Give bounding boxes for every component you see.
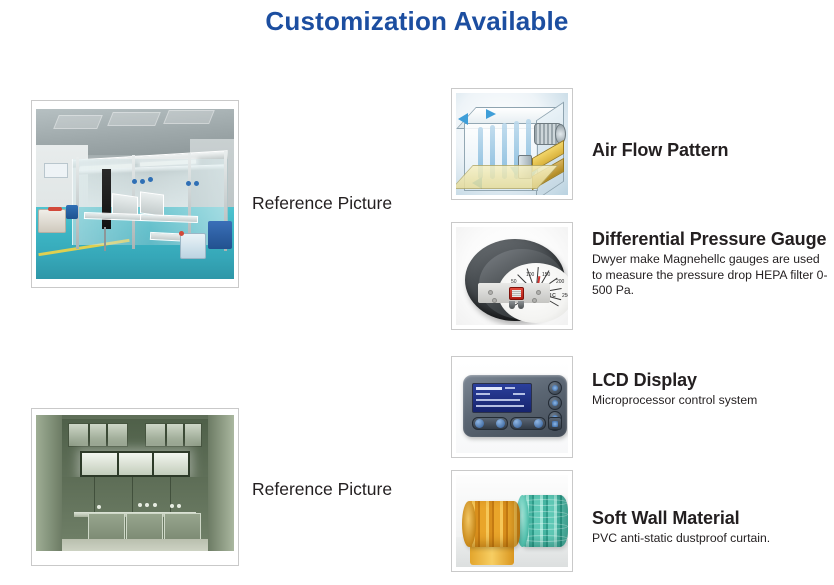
wall-outlet	[145, 503, 149, 507]
window-mullion	[165, 424, 167, 446]
page-title: Customization Available	[0, 6, 834, 37]
differential-pressure-gauge-image-frame: 0 50 100 150 200 250 MAGNEHELIC	[451, 222, 573, 330]
air-flow-pattern-text: Air Flow Pattern	[592, 140, 830, 161]
dial-label-100: 100	[526, 272, 534, 278]
white-cart	[38, 209, 66, 233]
pressure-port	[509, 301, 515, 309]
ceiling-panel	[163, 110, 215, 124]
lcd-display-image-frame	[451, 356, 573, 458]
right-wall	[208, 415, 234, 551]
panel-button-up[interactable]	[548, 381, 562, 395]
amber-roll-end-face	[462, 501, 476, 547]
lcd-display-description: Microprocessor control system	[592, 393, 830, 409]
cabinet-door	[88, 513, 125, 541]
reference-picture-2-frame	[31, 408, 239, 566]
pressure-port	[518, 301, 524, 309]
soft-wall-material-heading: Soft Wall Material	[592, 508, 830, 529]
cart-handle	[48, 207, 62, 211]
window-mullion	[183, 424, 185, 446]
wall-outlet	[138, 503, 142, 507]
lcd-control-panel-photo	[456, 361, 568, 453]
ceiling-light-panel	[80, 451, 191, 477]
trolley-knob	[179, 231, 184, 236]
panel-button-mid[interactable]	[548, 396, 562, 410]
right-arrow-icon[interactable]	[496, 419, 505, 428]
soft-wall-material-text: Soft Wall Material PVC anti-static dustp…	[592, 508, 830, 547]
button-indicator	[552, 385, 558, 391]
wall-label-icon	[140, 179, 145, 184]
down-arrow-icon[interactable]	[534, 419, 543, 428]
hanging-black-strip	[102, 169, 111, 229]
enter-icon	[552, 421, 558, 427]
enter-button[interactable]	[548, 417, 562, 430]
mounting-screw	[488, 290, 493, 295]
wall-outlet	[177, 504, 181, 508]
dial-label-200: 200	[556, 279, 564, 285]
wall-label-icon	[132, 179, 137, 184]
cabinet-door	[126, 513, 163, 541]
mounting-screw	[536, 290, 541, 295]
stand-pole	[104, 227, 106, 251]
screen-text-block	[476, 387, 502, 390]
cleanroom-interior-photo	[36, 109, 234, 279]
upper-window	[145, 423, 202, 447]
lcd-screen	[472, 383, 532, 413]
blue-bin	[66, 205, 78, 219]
wall-label-icon	[194, 181, 199, 186]
up-arrow-icon[interactable]	[513, 419, 522, 428]
control-panel-housing	[463, 375, 567, 437]
panel-divider	[152, 453, 154, 475]
screen-text-line	[476, 405, 524, 407]
reference-picture-1-label: Reference Picture	[252, 193, 442, 214]
button-indicator	[552, 400, 558, 406]
left-arrow-icon[interactable]	[475, 419, 484, 428]
wall-label-icon	[148, 177, 153, 182]
left-wall	[36, 415, 62, 551]
differential-pressure-gauge-text: Differential Pressure Gauge Dwyer make M…	[592, 229, 830, 299]
differential-pressure-gauge-description: Dwyer make Magnehellc gauges are used to…	[592, 252, 830, 300]
wall-outlet	[97, 505, 101, 509]
screen-text-line	[476, 399, 520, 401]
mounting-screw	[532, 298, 537, 303]
soft-wall-material-description: PVC anti-static dustproof curtain.	[592, 531, 830, 547]
cabinet-door	[164, 513, 201, 541]
wall-outlet	[153, 503, 157, 507]
differential-pressure-gauge-heading: Differential Pressure Gauge	[592, 229, 830, 250]
window-mullion	[106, 424, 108, 446]
nav-button-group-left[interactable]	[472, 417, 508, 430]
screen-text-line	[476, 393, 490, 395]
wall-outlet	[170, 504, 174, 508]
workbench-panel	[140, 191, 164, 216]
airflow-arrow-icon	[486, 109, 496, 119]
panel-divider	[117, 453, 119, 475]
floor	[62, 539, 208, 551]
pvc-strip-curtain-rolls-photo	[456, 475, 568, 567]
frame-post	[76, 157, 79, 249]
upper-window	[68, 423, 128, 447]
screen-text-line	[513, 393, 525, 395]
mounting-screw	[492, 298, 497, 303]
wall-sign	[44, 163, 68, 178]
airflow-pattern-diagram	[456, 93, 568, 195]
dial-label-150: 150	[542, 272, 550, 278]
window-mullion	[88, 424, 90, 446]
magnehelic-gauge-photo: 0 50 100 150 200 250 MAGNEHELIC	[456, 227, 568, 325]
trolley-basket	[180, 233, 206, 259]
reference-picture-1-frame	[31, 100, 239, 288]
ceiling-panel	[107, 112, 161, 126]
screen-text-line	[505, 387, 515, 389]
nav-button-group-right[interactable]	[510, 417, 546, 430]
air-flow-pattern-heading: Air Flow Pattern	[592, 140, 830, 161]
lcd-display-heading: LCD Display	[592, 370, 830, 391]
gauge-housing: 0 50 100 150 200 250 MAGNEHELIC	[465, 239, 565, 321]
wall-label-icon	[186, 181, 191, 186]
lcd-display-text: LCD Display Microprocessor control syste…	[592, 370, 830, 409]
soft-wall-material-image-frame	[451, 470, 573, 572]
airflow-arrow-icon	[458, 113, 468, 125]
gauge-nameplate	[509, 287, 524, 300]
room-interior	[62, 419, 208, 551]
reference-picture-2-label: Reference Picture	[252, 479, 442, 500]
nameplate-text	[512, 290, 521, 297]
blue-bin	[208, 221, 232, 249]
air-shower-room-photo	[36, 415, 234, 551]
ceiling-panel	[53, 115, 103, 129]
air-flow-pattern-image-frame	[451, 88, 573, 200]
